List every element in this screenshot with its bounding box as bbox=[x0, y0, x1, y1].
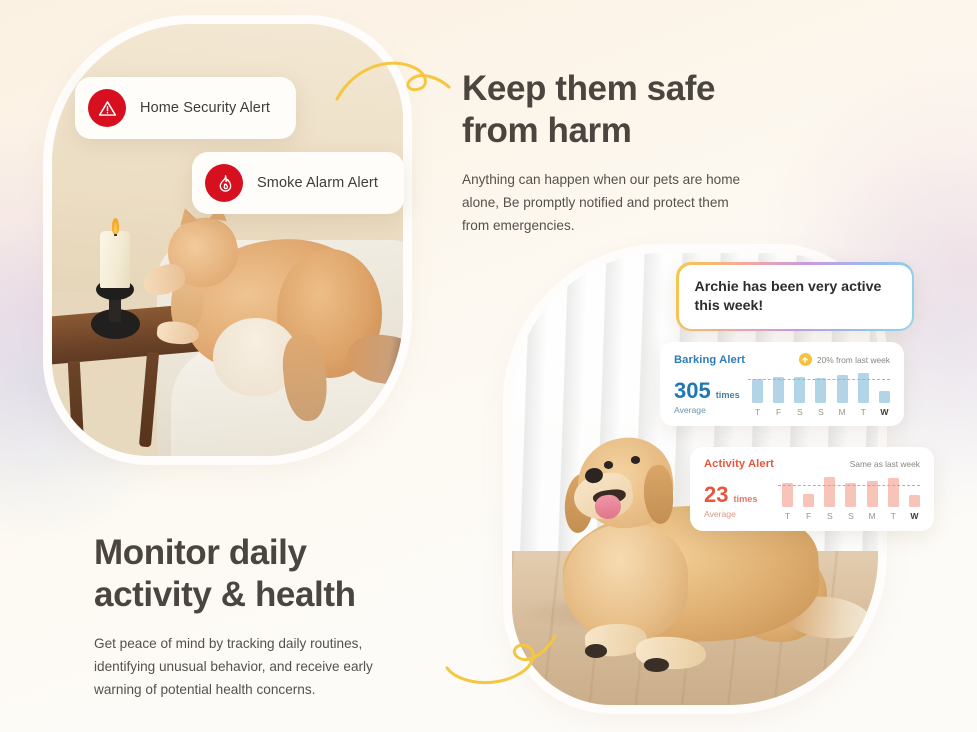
feature-section-page: Home Security Alert Smoke Alarm Alert Ke… bbox=[0, 0, 977, 732]
chart-bar bbox=[794, 377, 805, 403]
activity-chart-labels: TFSSMTW bbox=[782, 511, 920, 521]
home-security-alert-label: Home Security Alert bbox=[140, 100, 270, 116]
activity-trend: Same as last week bbox=[850, 459, 920, 469]
barking-bar-chart: TFSSMTW bbox=[748, 371, 890, 417]
barking-trend-text: 20% from last week bbox=[817, 355, 890, 365]
chart-bar bbox=[824, 477, 835, 507]
activity-body-text: Get peace of mind by tracking daily rout… bbox=[94, 632, 414, 702]
candle bbox=[100, 231, 130, 287]
activity-alert-card[interactable]: Activity Alert Same as last week 23 time… bbox=[690, 447, 934, 531]
cat-table-leg bbox=[139, 352, 159, 448]
archie-activity-notification-card[interactable]: Archie has been very active this week! bbox=[676, 262, 914, 331]
chart-bar bbox=[909, 495, 920, 507]
chart-bar bbox=[803, 494, 814, 507]
cat-table-leg-back bbox=[67, 361, 83, 448]
chart-bar bbox=[752, 379, 763, 403]
arrow-up-icon bbox=[799, 353, 812, 366]
barking-card-body: 305 times Average TFSSMTW bbox=[674, 371, 890, 417]
safety-headline-line1: Keep them safe bbox=[462, 69, 715, 108]
barking-trend: 20% from last week bbox=[799, 353, 890, 366]
chart-axis-label: F bbox=[803, 511, 814, 521]
activity-summary: 23 times Average bbox=[704, 484, 778, 521]
activity-value-row: 23 times bbox=[704, 484, 778, 506]
barking-card-header: Barking Alert 20% from last week bbox=[674, 353, 890, 366]
activity-bar-chart: TFSSMTW bbox=[778, 475, 920, 521]
barking-chart-labels: TFSSMTW bbox=[752, 407, 890, 417]
dog-eye-left bbox=[604, 461, 614, 469]
safety-headline: Keep them safe from harm bbox=[462, 68, 752, 153]
yellow-swirl-bottom-decoration bbox=[443, 628, 563, 695]
archie-card-line2: this week! bbox=[695, 298, 764, 314]
chart-axis-label: S bbox=[815, 407, 826, 417]
smoke-alarm-alert-card[interactable]: Smoke Alarm Alert bbox=[192, 152, 404, 214]
chart-axis-label: T bbox=[752, 407, 763, 417]
home-security-alert-card[interactable]: Home Security Alert bbox=[75, 77, 296, 139]
activity-sublabel: Average bbox=[704, 509, 778, 519]
chart-bar bbox=[879, 391, 890, 403]
barking-value: 305 bbox=[674, 380, 711, 402]
barking-sublabel: Average bbox=[674, 405, 748, 415]
safety-headline-line2: from harm bbox=[462, 111, 632, 150]
safety-body-text: Anything can happen when our pets are ho… bbox=[462, 168, 752, 238]
yellow-swirl-top-decoration bbox=[333, 44, 453, 111]
chart-axis-label: T bbox=[782, 511, 793, 521]
archie-card-inner: Archie has been very active this week! bbox=[679, 265, 912, 329]
chart-axis-label: S bbox=[794, 407, 805, 417]
activity-value: 23 bbox=[704, 484, 728, 506]
barking-unit: times bbox=[716, 390, 740, 400]
chart-axis-label: W bbox=[879, 407, 890, 417]
barking-alert-card[interactable]: Barking Alert 20% from last week 305 tim… bbox=[660, 342, 904, 426]
flame-icon bbox=[205, 164, 243, 202]
candle-flame bbox=[112, 218, 120, 234]
warning-triangle-icon bbox=[88, 89, 126, 127]
chart-axis-label: T bbox=[858, 407, 869, 417]
activity-headline-line2: activity & health bbox=[94, 575, 356, 614]
barking-alert-title: Barking Alert bbox=[674, 354, 745, 366]
dog-paw-tip-left bbox=[585, 644, 607, 658]
barking-value-row: 305 times bbox=[674, 380, 748, 402]
chart-bar bbox=[815, 378, 826, 403]
smoke-alarm-alert-label: Smoke Alarm Alert bbox=[257, 175, 378, 191]
activity-headline-line1: Monitor daily bbox=[94, 533, 307, 572]
barking-chart-bars bbox=[752, 371, 890, 403]
activity-unit: times bbox=[733, 494, 757, 504]
activity-alert-title: Activity Alert bbox=[704, 458, 774, 470]
archie-card-text: Archie has been very active this week! bbox=[695, 278, 896, 317]
chart-axis-label: T bbox=[888, 511, 899, 521]
chart-bar bbox=[858, 373, 869, 403]
activity-headline: Monitor daily activity & health bbox=[94, 532, 414, 617]
activity-card-body: 23 times Average TFSSMTW bbox=[704, 475, 920, 521]
activity-copy-block: Monitor daily activity & health Get peac… bbox=[94, 532, 414, 702]
chart-axis-label: W bbox=[909, 511, 920, 521]
chart-bar bbox=[888, 478, 899, 507]
dog-paw-tip-right bbox=[644, 658, 670, 672]
chart-axis-label: S bbox=[845, 511, 856, 521]
archie-card-line1: Archie has been very active bbox=[695, 279, 882, 295]
activity-average-line bbox=[778, 485, 920, 486]
barking-average-line bbox=[748, 379, 890, 380]
chart-bar bbox=[782, 483, 793, 507]
barking-summary: 305 times Average bbox=[674, 380, 748, 417]
activity-chart-bars bbox=[782, 475, 920, 507]
chart-axis-label: M bbox=[837, 407, 848, 417]
safety-copy-block: Keep them safe from harm Anything can ha… bbox=[462, 68, 752, 238]
chart-bar bbox=[773, 377, 784, 403]
chart-axis-label: F bbox=[773, 407, 784, 417]
chart-axis-label: M bbox=[867, 511, 878, 521]
activity-card-header: Activity Alert Same as last week bbox=[704, 458, 920, 470]
chart-axis-label: S bbox=[824, 511, 835, 521]
activity-trend-text: Same as last week bbox=[850, 459, 920, 469]
